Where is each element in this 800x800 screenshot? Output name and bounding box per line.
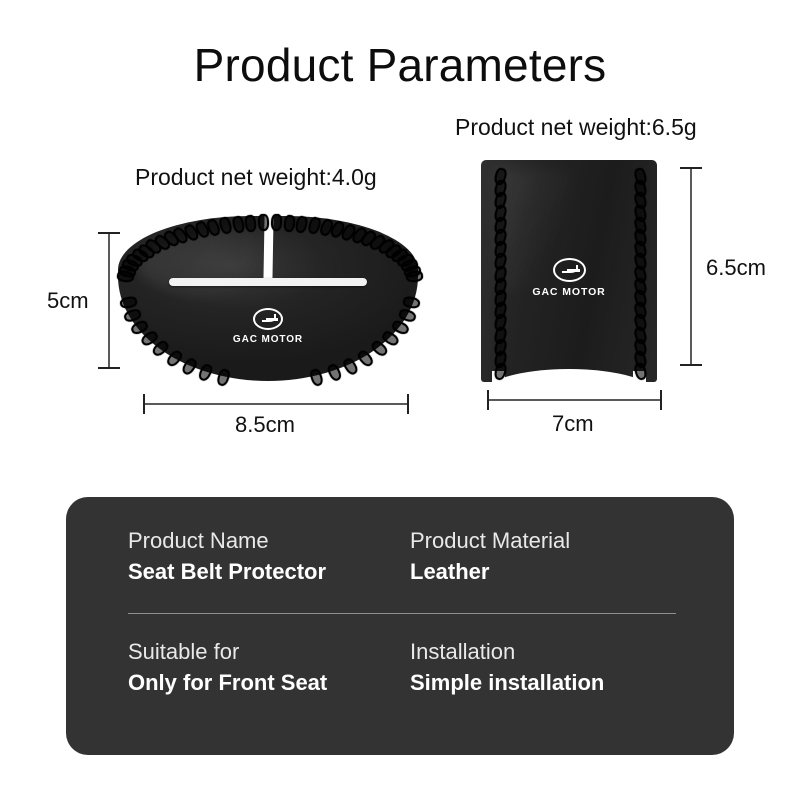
gac-logo-text: GAC MOTOR bbox=[481, 287, 657, 298]
dimension-cap bbox=[680, 167, 702, 169]
dimension-cap bbox=[98, 232, 120, 234]
gac-logo-text: GAC MOTOR bbox=[118, 335, 418, 345]
spec-value: Seat Belt Protector bbox=[128, 557, 402, 586]
product-net-weight-label-right: Product net weight:6.5g bbox=[455, 114, 697, 141]
spec-key: Suitable for bbox=[128, 638, 402, 666]
spec-value: Simple installation bbox=[410, 668, 676, 697]
product-image-seat-belt-sleeve: GAC MOTOR bbox=[481, 160, 657, 382]
gac-logo-icon bbox=[553, 258, 586, 282]
spec-cell-product-name: Product Name Seat Belt Protector bbox=[128, 527, 402, 586]
spec-cell-product-material: Product Material Leather bbox=[402, 527, 676, 586]
dimension-line-width-left bbox=[143, 403, 409, 405]
sleeve-bottom-flap bbox=[481, 369, 657, 382]
spec-key: Installation bbox=[410, 638, 676, 666]
dimension-line-width-right bbox=[487, 399, 662, 401]
spec-divider bbox=[128, 613, 676, 614]
dimension-cap bbox=[407, 394, 409, 414]
spec-cell-suitable-for: Suitable for Only for Front Seat bbox=[128, 638, 402, 697]
dimension-text-width-left: 8.5cm bbox=[235, 412, 295, 438]
page-title: Product Parameters bbox=[0, 38, 800, 92]
gac-motor-logo-right: GAC MOTOR bbox=[481, 258, 657, 298]
pad-slot-horizontal bbox=[169, 278, 367, 286]
dimension-line-height-right bbox=[690, 167, 692, 366]
product-net-weight-label-left: Product net weight:4.0g bbox=[135, 164, 377, 191]
stitch bbox=[258, 214, 270, 231]
spec-key: Product Material bbox=[410, 527, 676, 555]
product-image-seat-belt-pad: GAC MOTOR bbox=[118, 216, 418, 381]
stitch bbox=[406, 270, 424, 283]
dimension-cap bbox=[487, 390, 489, 410]
spec-value: Only for Front Seat bbox=[128, 668, 402, 697]
spec-key: Product Name bbox=[128, 527, 402, 555]
dimension-text-height-left: 5cm bbox=[47, 288, 89, 314]
dimension-cap bbox=[98, 367, 120, 369]
dimension-cap bbox=[660, 390, 662, 410]
spec-cell-installation: Installation Simple installation bbox=[402, 638, 676, 697]
dimension-cap bbox=[143, 394, 145, 414]
spec-panel: Product Name Seat Belt Protector Product… bbox=[66, 497, 734, 755]
gac-motor-logo-left: GAC MOTOR bbox=[118, 308, 418, 345]
spec-grid: Product Name Seat Belt Protector Product… bbox=[128, 527, 676, 697]
dimension-line-height-left bbox=[108, 232, 110, 369]
gac-logo-icon bbox=[253, 308, 283, 330]
spec-row: Suitable for Only for Front Seat Install… bbox=[128, 638, 676, 697]
dimension-cap bbox=[680, 364, 702, 366]
spec-value: Leather bbox=[410, 557, 676, 586]
dimension-text-height-right: 6.5cm bbox=[706, 255, 766, 281]
spec-row: Product Name Seat Belt Protector Product… bbox=[128, 527, 676, 586]
dimension-text-width-right: 7cm bbox=[552, 411, 594, 437]
